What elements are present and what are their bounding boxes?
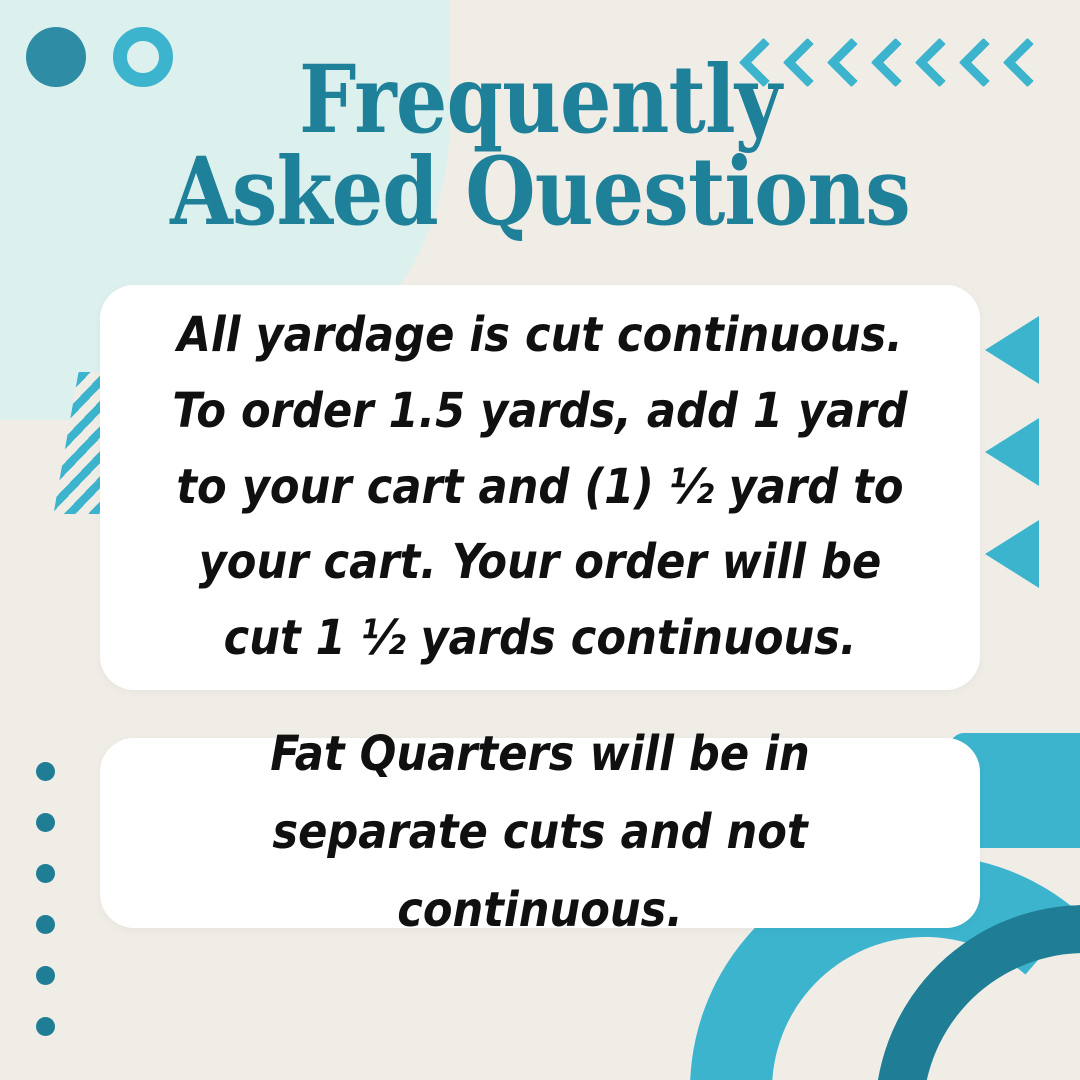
page-title: Frequently Asked Questions <box>76 54 1005 238</box>
title-line-2: Asked Questions <box>76 146 1005 238</box>
column-dot-icon <box>36 864 55 883</box>
chevron-left-icon <box>1004 38 1038 84</box>
dot-column-decoration <box>36 762 55 1036</box>
column-dot-icon <box>36 966 55 985</box>
column-dot-icon <box>36 762 55 781</box>
column-dot-icon <box>36 915 55 934</box>
faq-card-1-text: All yardage is cut continuous. To order … <box>166 298 915 677</box>
triangle-left-icon <box>985 316 1039 384</box>
triangle-left-icon <box>985 418 1039 486</box>
faq-card-1: All yardage is cut continuous. To order … <box>100 285 980 690</box>
faq-card-2-text: Fat Quarters will be in separate cuts an… <box>171 716 909 949</box>
column-dot-icon <box>36 1017 55 1036</box>
triangle-column <box>985 316 1039 588</box>
title-line-1: Frequently <box>76 54 1005 146</box>
triangle-left-icon <box>985 520 1039 588</box>
column-dot-icon <box>36 813 55 832</box>
faq-card-2: Fat Quarters will be in separate cuts an… <box>100 738 980 928</box>
faq-poster: Frequently Asked Questions All yardage i… <box>0 0 1080 1080</box>
